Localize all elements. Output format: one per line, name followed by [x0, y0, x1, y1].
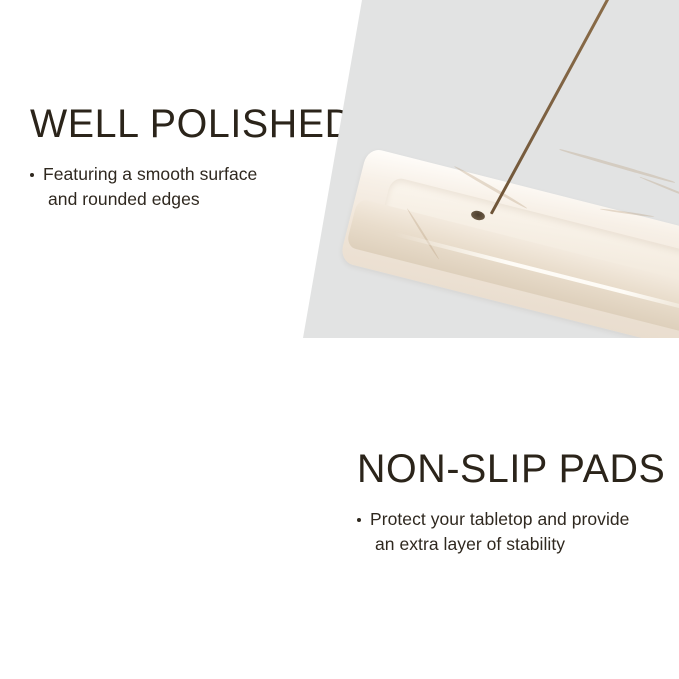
bullet-line-2: and rounded edges — [43, 187, 359, 212]
bullet-dot-icon — [30, 173, 34, 177]
bullet-line-2: an extra layer of stability — [370, 532, 670, 557]
list-item: Featuring a smooth surface and rounded e… — [30, 162, 359, 212]
page-title-non-slip-pads: NON-SLIP PADS — [357, 449, 665, 489]
non-slip-bullet-list: Protect your tabletop and provide an ext… — [357, 507, 670, 557]
well-polished-text-block: WELL POLISHED Featuring a smooth surface… — [30, 104, 359, 212]
page-title-well-polished: WELL POLISHED — [30, 104, 354, 144]
marble-vein — [559, 148, 675, 183]
product-infographic: WELL POLISHED Featuring a smooth surface… — [0, 0, 679, 679]
list-item: Protect your tabletop and provide an ext… — [357, 507, 670, 557]
well-polished-bullet-list: Featuring a smooth surface and rounded e… — [30, 162, 359, 212]
marble-vein — [639, 176, 679, 204]
panel-photo-non-slip-pads — [0, 341, 679, 679]
bullet-line-1: Featuring a smooth surface — [43, 164, 257, 184]
bullet-line-1: Protect your tabletop and provide — [370, 509, 629, 529]
incense-stick — [490, 0, 611, 215]
bullet-dot-icon — [357, 518, 361, 522]
non-slip-text-block: NON-SLIP PADS Protect your tabletop and … — [357, 449, 670, 557]
